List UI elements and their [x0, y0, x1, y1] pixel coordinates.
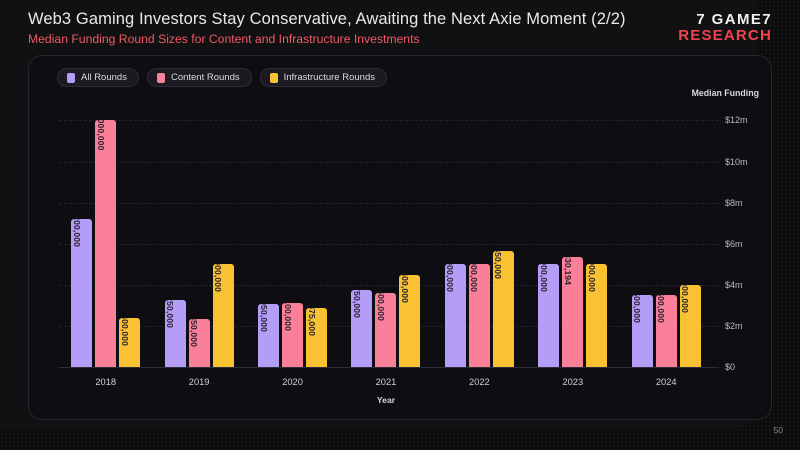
bar-slot: $3,500,000 [656, 104, 677, 367]
chart-legend: All RoundsContent RoundsInfrastructure R… [57, 68, 387, 87]
bar-slot: $5,000,000 [445, 104, 466, 367]
bar-infrastructure-rounds-2024[interactable]: $4,000,000 [680, 285, 701, 367]
x-tick-label-2019: 2019 [152, 377, 245, 387]
y-tick-label: $12m [725, 115, 748, 125]
x-tick-label-2020: 2020 [246, 377, 339, 387]
bar-slot: $2,400,000 [119, 104, 140, 367]
x-tick-label-2018: 2018 [59, 377, 152, 387]
y-tick-label: $0 [725, 362, 735, 372]
bar-groups: $7,200,000$12,000,000$2,400,0002018$3,25… [59, 104, 713, 367]
legend-swatch-icon [157, 73, 165, 83]
bar-infrastructure-rounds-2021[interactable]: $4,500,000 [399, 275, 420, 367]
logo-wordmark-top: 7 GAME7 [678, 12, 772, 28]
bar-value-label: $2,400,000 [120, 318, 130, 346]
y-tick-label: $4m [725, 280, 743, 290]
bar-slot: $3,750,000 [351, 104, 372, 367]
y-tick-label: $8m [725, 198, 743, 208]
bar-infrastructure-rounds-2022[interactable]: $5,650,000 [493, 251, 514, 367]
bar-slot: $5,000,000 [213, 104, 234, 367]
gridline [59, 367, 719, 368]
y-axis-title: Median Funding [692, 88, 759, 98]
bar-slot: $3,600,000 [375, 104, 396, 367]
bar-slot: $3,050,000 [258, 104, 279, 367]
bar-slot: $5,000,000 [538, 104, 559, 367]
bar-group-2020: $3,050,000$3,100,000$2,875,0002020 [246, 104, 339, 367]
x-tick-label-2022: 2022 [433, 377, 526, 387]
bar-value-label: $7,200,000 [72, 219, 82, 247]
bar-slot: $2,875,000 [306, 104, 327, 367]
bar-all-rounds-2022[interactable]: $5,000,000 [445, 264, 466, 367]
bar-value-label: $5,330,194 [563, 257, 573, 285]
x-tick-label-2023: 2023 [526, 377, 619, 387]
bar-infrastructure-rounds-2023[interactable]: $5,000,000 [586, 264, 607, 367]
bar-slot: $12,000,000 [95, 104, 116, 367]
bar-group-2022: $5,000,000$5,000,000$5,650,0002022 [433, 104, 526, 367]
legend-swatch-icon [270, 73, 278, 83]
bar-value-label: $2,350,000 [189, 319, 199, 347]
chart-card: All RoundsContent RoundsInfrastructure R… [28, 55, 772, 420]
page-subtitle: Median Funding Round Sizes for Content a… [28, 32, 626, 46]
bar-value-label: $5,000,000 [469, 264, 479, 292]
bar-group-2024: $3,500,000$3,500,000$4,000,0002024 [620, 104, 713, 367]
bar-all-rounds-2023[interactable]: $5,000,000 [538, 264, 559, 367]
bar-all-rounds-2018[interactable]: $7,200,000 [71, 219, 92, 367]
bar-value-label: $12,000,000 [96, 120, 106, 150]
legend-label: All Rounds [81, 72, 127, 83]
bar-slot: $3,100,000 [282, 104, 303, 367]
title-block: Web3 Gaming Investors Stay Conservative,… [28, 10, 626, 46]
bar-content-rounds-2024[interactable]: $3,500,000 [656, 295, 677, 367]
slide-header: Web3 Gaming Investors Stay Conservative,… [28, 10, 772, 52]
bar-slot: $3,250,000 [165, 104, 186, 367]
bar-slot: $4,500,000 [399, 104, 420, 367]
bar-value-label: $5,000,000 [445, 264, 455, 292]
slide-root: Web3 Gaming Investors Stay Conservative,… [0, 0, 800, 450]
bar-all-rounds-2021[interactable]: $3,750,000 [351, 290, 372, 367]
bar-slot: $4,000,000 [680, 104, 701, 367]
logo-wordmark-bottom: RESEARCH [678, 28, 772, 44]
legend-label: Infrastructure Rounds [284, 72, 375, 83]
bar-value-label: $5,000,000 [587, 264, 597, 292]
x-tick-label-2024: 2024 [620, 377, 713, 387]
bar-value-label: $5,650,000 [493, 251, 503, 279]
y-tick-label: $2m [725, 321, 743, 331]
bar-infrastructure-rounds-2020[interactable]: $2,875,000 [306, 308, 327, 367]
legend-swatch-icon [67, 73, 75, 83]
bar-value-label: $4,000,000 [680, 285, 690, 313]
x-axis-title: Year [59, 395, 713, 405]
bar-value-label: $3,500,000 [632, 295, 642, 323]
bar-value-label: $3,100,000 [283, 303, 293, 331]
legend-item-all-rounds[interactable]: All Rounds [57, 68, 139, 87]
bar-value-label: $2,875,000 [307, 308, 317, 336]
bar-value-label: $3,050,000 [259, 304, 269, 332]
bar-value-label: $5,000,000 [539, 264, 549, 292]
bar-content-rounds-2021[interactable]: $3,600,000 [375, 293, 396, 367]
plot-area: $0$2m$4m$6m$8m$10m$12m $7,200,000$12,000… [59, 104, 713, 367]
bar-slot: $5,650,000 [493, 104, 514, 367]
bar-slot: $2,350,000 [189, 104, 210, 367]
bar-content-rounds-2019[interactable]: $2,350,000 [189, 319, 210, 367]
y-tick-label: $6m [725, 239, 743, 249]
bar-group-2021: $3,750,000$3,600,000$4,500,0002021 [339, 104, 432, 367]
y-tick-label: $10m [725, 157, 748, 167]
bar-content-rounds-2020[interactable]: $3,100,000 [282, 303, 303, 367]
legend-label: Content Rounds [171, 72, 240, 83]
bar-infrastructure-rounds-2018[interactable]: $2,400,000 [119, 318, 140, 367]
bar-content-rounds-2018[interactable]: $12,000,000 [95, 120, 116, 367]
page-title: Web3 Gaming Investors Stay Conservative,… [28, 10, 626, 29]
bar-all-rounds-2020[interactable]: $3,050,000 [258, 304, 279, 367]
bar-slot: $5,000,000 [586, 104, 607, 367]
bar-value-label: $3,500,000 [656, 295, 666, 323]
bar-value-label: $4,500,000 [400, 275, 410, 303]
bar-value-label: $3,600,000 [376, 293, 386, 321]
bar-infrastructure-rounds-2019[interactable]: $5,000,000 [213, 264, 234, 367]
bar-group-2023: $5,000,000$5,330,194$5,000,0002023 [526, 104, 619, 367]
legend-item-infrastructure-rounds[interactable]: Infrastructure Rounds [260, 68, 387, 87]
bar-all-rounds-2019[interactable]: $3,250,000 [165, 300, 186, 367]
legend-item-content-rounds[interactable]: Content Rounds [147, 68, 252, 87]
bar-content-rounds-2023[interactable]: $5,330,194 [562, 257, 583, 367]
page-number: 50 [774, 425, 783, 435]
bar-slot: $5,330,194 [562, 104, 583, 367]
bar-slot: $5,000,000 [469, 104, 490, 367]
y-axis-ticks: $0$2m$4m$6m$8m$10m$12m [713, 104, 771, 367]
bar-slot: $7,200,000 [71, 104, 92, 367]
bar-value-label: $3,250,000 [165, 300, 175, 328]
bar-all-rounds-2024[interactable]: $3,500,000 [632, 295, 653, 367]
bar-value-label: $5,000,000 [213, 264, 223, 292]
bar-value-label: $3,750,000 [352, 290, 362, 318]
bar-content-rounds-2022[interactable]: $5,000,000 [469, 264, 490, 367]
x-tick-label-2021: 2021 [339, 377, 432, 387]
bar-slot: $3,500,000 [632, 104, 653, 367]
game7-research-logo: 7 GAME7 RESEARCH [678, 12, 772, 44]
bar-group-2019: $3,250,000$2,350,000$5,000,0002019 [152, 104, 245, 367]
bar-group-2018: $7,200,000$12,000,000$2,400,0002018 [59, 104, 152, 367]
